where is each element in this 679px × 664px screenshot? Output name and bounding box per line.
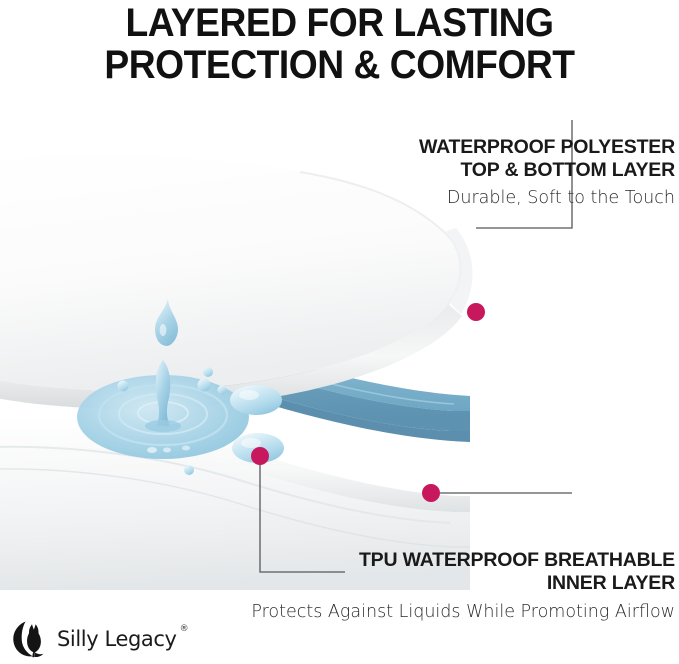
droplet-bead xyxy=(198,379,211,392)
callout-bottom-subtitle: Protects Against Liquids While Promoting… xyxy=(251,601,675,623)
callout-bottom-title-line-1: TPU WATERPROOF BREATHABLE xyxy=(251,549,675,572)
marker-tpu-layer[interactable] xyxy=(251,447,269,465)
callout-top-title-line-1: WATERPROOF POLYESTER xyxy=(419,136,675,159)
page-title-line-2: PROTECTION & COMFORT xyxy=(24,44,655,86)
droplet-bead xyxy=(230,385,282,415)
callout-top-layer: WATERPROOF POLYESTER TOP & BOTTOM LAYER … xyxy=(419,136,675,209)
droplet-bead xyxy=(203,367,213,377)
brand-logo: Silly Legacy ® xyxy=(10,616,189,660)
callout-inner-layer: TPU WATERPROOF BREATHABLE INNER LAYER Pr… xyxy=(251,549,675,623)
callout-top-title-line-2: TOP & BOTTOM LAYER xyxy=(419,159,675,182)
cat-silhouette-icon xyxy=(10,616,54,660)
marker-top-layer[interactable] xyxy=(467,303,485,321)
droplet-bead xyxy=(118,381,129,392)
brand-wordmark: Silly Legacy xyxy=(57,627,177,651)
marker-bottom-layer[interactable] xyxy=(422,484,440,502)
page-title-line-1: LAYERED FOR LASTING xyxy=(24,2,655,44)
page-title: LAYERED FOR LASTING PROTECTION & COMFORT xyxy=(24,2,655,86)
callout-top-subtitle: Durable, Soft to the Touch xyxy=(419,187,675,209)
droplet-bead xyxy=(184,465,194,475)
droplet-bead xyxy=(218,386,227,395)
callout-bottom-title-line-2: INNER LAYER xyxy=(251,572,675,595)
registered-trademark-symbol: ® xyxy=(180,624,189,634)
